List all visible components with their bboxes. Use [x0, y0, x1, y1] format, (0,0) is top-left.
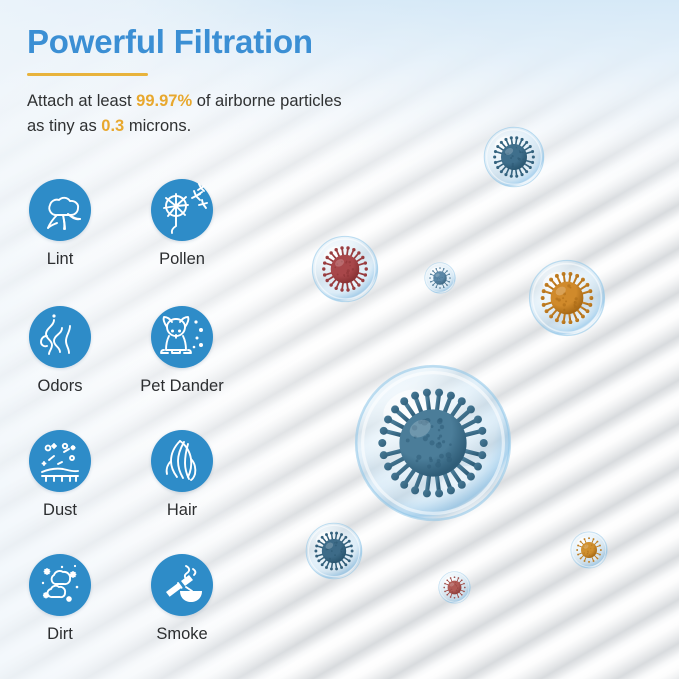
feature-badge-lint[interactable] — [29, 179, 91, 241]
dust-particles-icon — [29, 430, 91, 492]
hair-lock-icon — [151, 430, 213, 492]
odor-waves-icon — [29, 306, 91, 368]
feature-badge-pollen[interactable] — [151, 179, 213, 241]
feature-badge-dirt[interactable] — [29, 554, 91, 616]
subtitle-percent-value: 99.97% — [136, 92, 192, 110]
powerful-filtration-poster: Powerful Filtration Attach at least 99.9… — [0, 0, 679, 679]
virus-particle-small-blue — [424, 262, 456, 294]
feature-label-smoke: Smoke — [107, 625, 257, 644]
subtitle-line1-suffix: of airborne particles — [192, 92, 342, 110]
page-title: Powerful Filtration — [27, 24, 457, 61]
virus-particle-orange — [528, 259, 606, 337]
virus-particle-red — [311, 235, 379, 303]
header-block: Powerful Filtration Attach at least 99.9… — [27, 24, 457, 138]
subtitle-line1-prefix: Attach at least — [27, 92, 136, 110]
virus-particle-large-teal — [353, 363, 513, 523]
feature-label-pollen: Pollen — [107, 250, 257, 269]
feature-badge-smoke[interactable] — [151, 554, 213, 616]
cotton-boll-icon — [29, 179, 91, 241]
virus-particle-teal — [483, 126, 545, 188]
subtitle-line2-suffix: microns. — [124, 117, 191, 135]
subtitle-microns-value: 0.3 — [101, 117, 124, 135]
subtitle-line2-prefix: as tiny as — [27, 117, 101, 135]
feature-badge-hair[interactable] — [151, 430, 213, 492]
dog-dander-icon — [151, 306, 213, 368]
feature-badge-odors[interactable] — [29, 306, 91, 368]
feature-label-pet-dander: Pet Dander — [107, 377, 257, 396]
virus-particle-bottom-orange — [570, 531, 608, 569]
virus-particle-bottom-red — [438, 571, 471, 604]
dandelion-icon — [151, 179, 213, 241]
feature-badge-pet-dander[interactable] — [151, 306, 213, 368]
subtitle-text: Attach at least 99.97% of airborne parti… — [27, 89, 457, 139]
feature-label-hair: Hair — [107, 501, 257, 520]
dirt-clump-icon — [29, 554, 91, 616]
feature-badge-dust[interactable] — [29, 430, 91, 492]
title-accent-rule — [27, 73, 148, 76]
virus-particle-bottom-teal — [305, 522, 363, 580]
cigarette-ashtray-icon — [151, 554, 213, 616]
